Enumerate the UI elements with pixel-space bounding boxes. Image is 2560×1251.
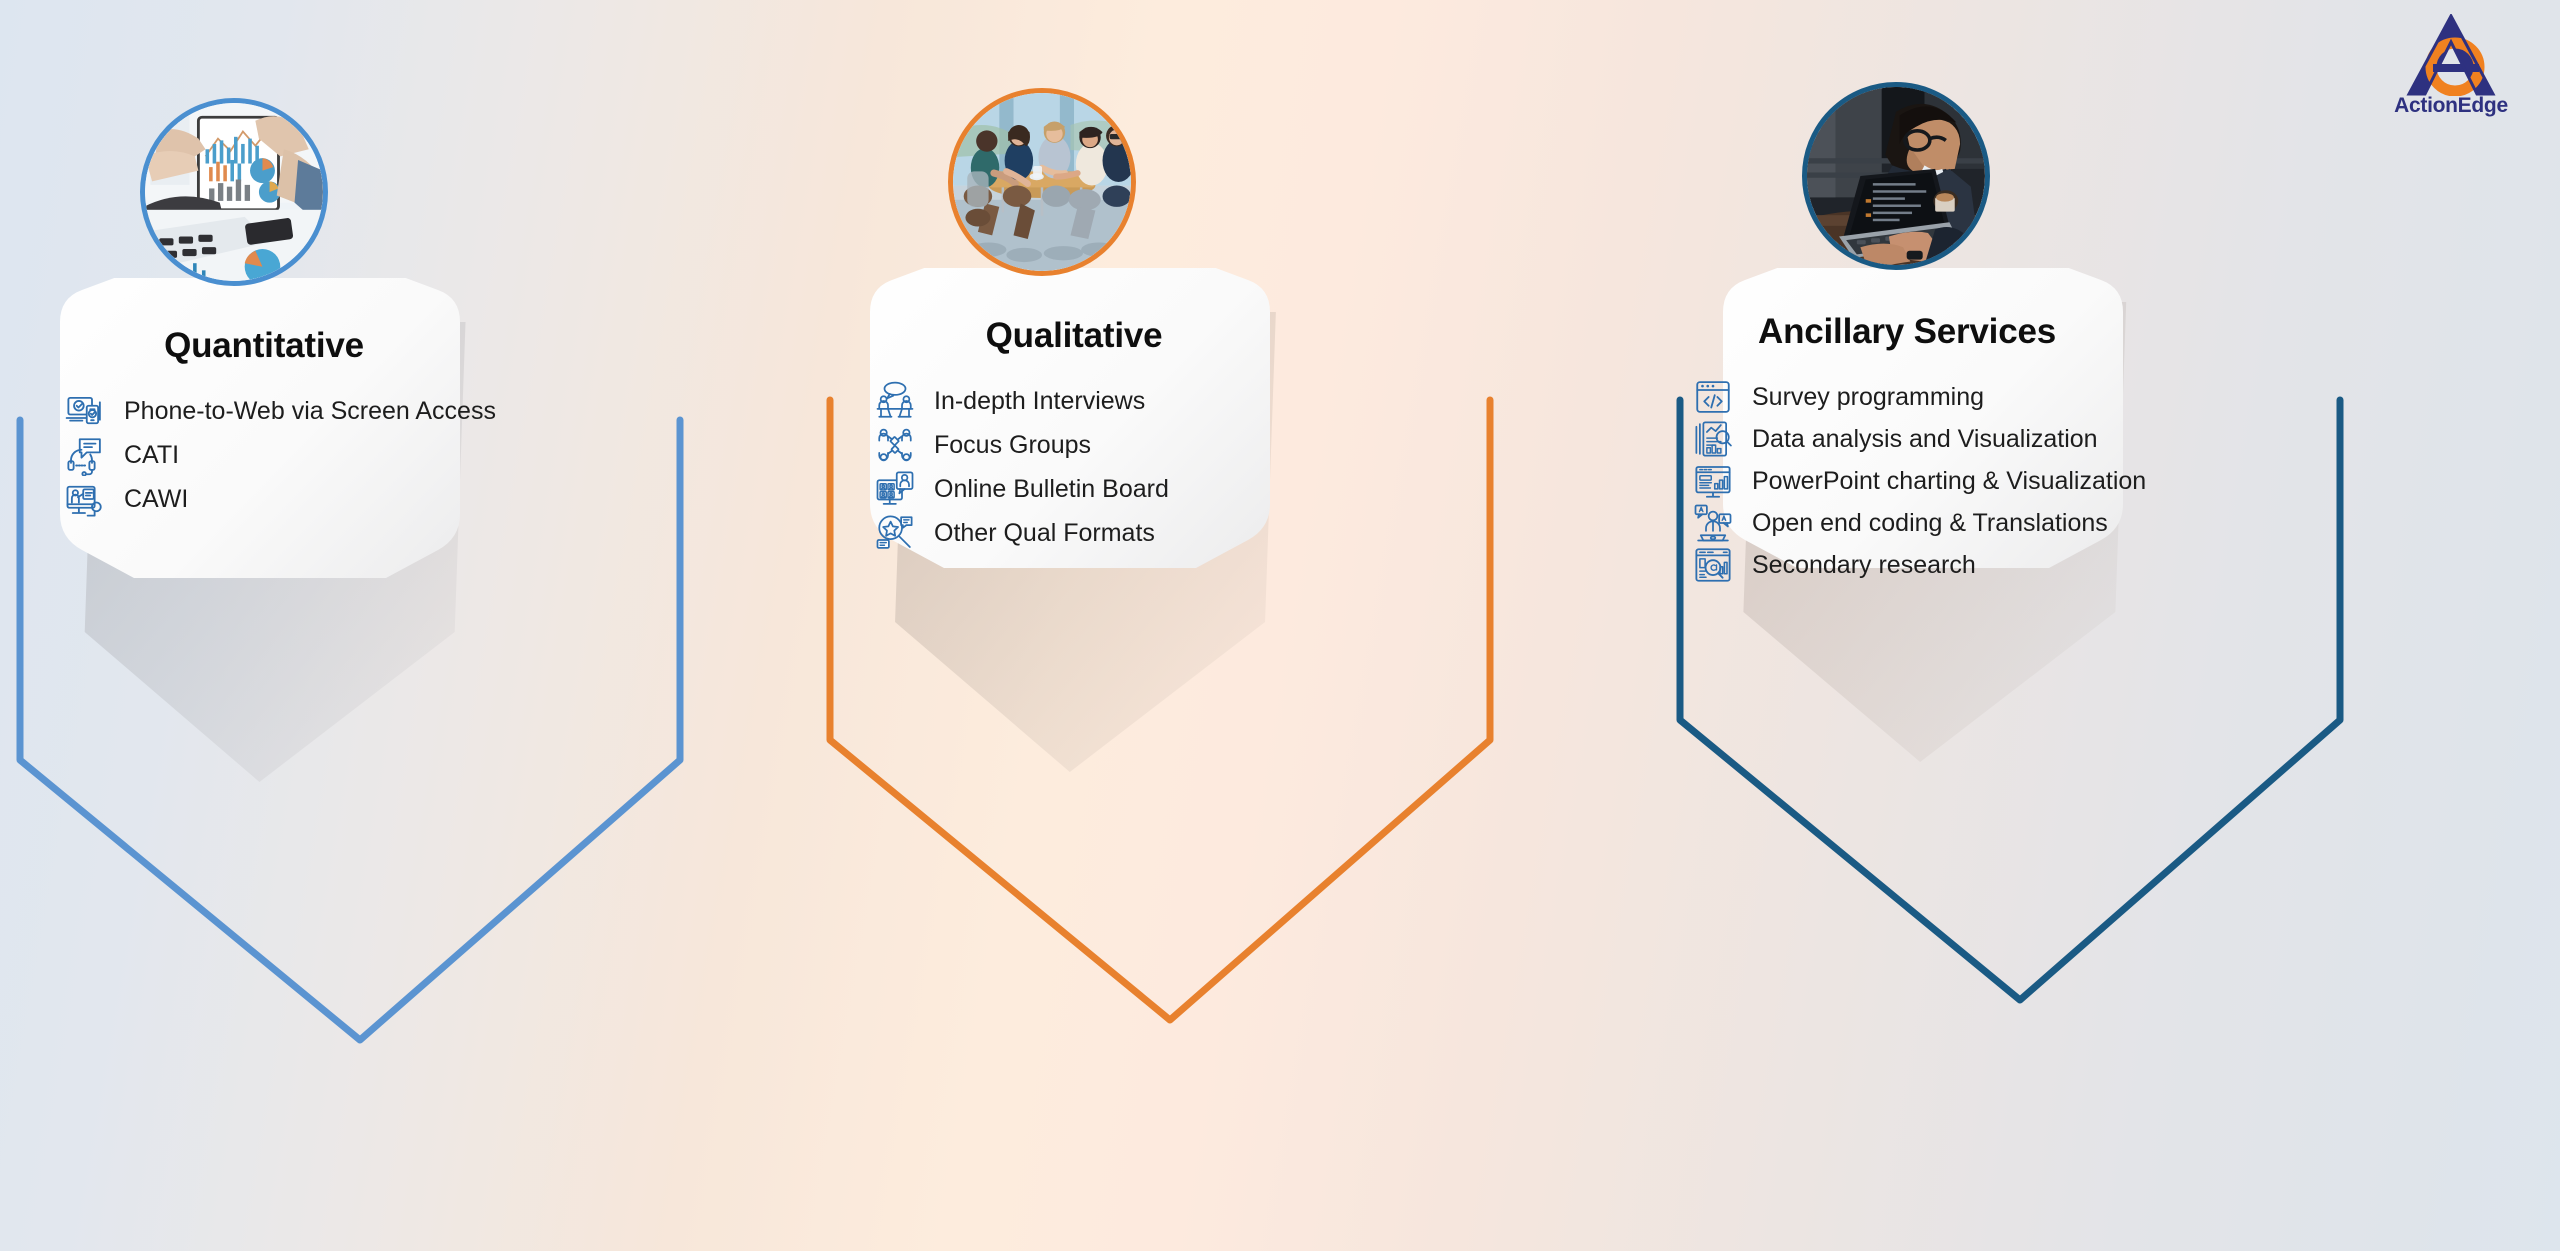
card-quantitative: Quantitative Phone-t [0,0,760,1251]
accent-outline-quantitative [0,0,760,1251]
list-item[interactable]: CATI [64,434,464,476]
list-item[interactable]: Survey programming [1692,376,2122,418]
list-item[interactable]: PowerPoint charting & Visualization [1692,460,2122,502]
service-list: In-depth Interviews [874,380,1274,554]
card-shadow [0,0,760,1251]
list-item[interactable]: Online Bulletin Board [874,468,1274,510]
list-item-label: In-depth Interviews [934,389,1145,414]
list-item[interactable]: CAWI [64,478,464,520]
interview-speech-bubble-icon [874,380,916,422]
accent-outline-qualitative [790,0,1570,1251]
list-item[interactable]: Focus Groups [874,424,1274,466]
group-connection-icon [874,424,916,466]
list-item-label: Focus Groups [934,433,1091,458]
card-qualitative: Qualitative [790,0,1570,1251]
list-item[interactable]: In-depth Interviews [874,380,1274,422]
list-item-label: Online Bulletin Board [934,477,1169,502]
brand-name: ActionEdge [2386,94,2516,118]
translation-person-laptop-icon [1692,502,1734,544]
list-item[interactable]: Open end coding & Translations [1692,502,2122,544]
laptop-mobile-check-icon [64,390,106,432]
service-list: Phone-to-Web via Screen Access [64,390,464,520]
report-magnifier-chart-icon [1692,418,1734,460]
infographic-canvas: ActionEdge [0,0,2560,1251]
list-item-label: Phone-to-Web via Screen Access [124,399,496,424]
card-title: Qualitative [874,316,1274,356]
web-research-magnifier-icon [1692,544,1734,586]
list-item-label: CATI [124,443,179,468]
magnifier-star-chat-icon [874,512,916,554]
presenter-screen-icon [64,478,106,520]
list-item-label: Data analysis and Visualization [1752,427,2098,452]
card-photo-quantitative [140,98,328,286]
list-item[interactable]: Other Qual Formats [874,512,1274,554]
list-item-label: Open end coding & Translations [1752,511,2108,536]
card-photo-qualitative [948,88,1136,276]
code-browser-icon [1692,376,1734,418]
list-item-label: Survey programming [1752,385,1984,410]
list-item-label: PowerPoint charting & Visualization [1752,469,2146,494]
accent-outline-ancillary [1620,0,2400,1251]
card-content-qualitative: Qualitative [874,316,1274,554]
card-content-quantitative: Quantitative Phone-t [64,326,464,520]
card-content-ancillary: Ancillary Services Survey programmi [1692,312,2122,586]
card-title: Quantitative [64,326,464,366]
actionedge-logo-icon [2403,14,2499,96]
card-photo-ancillary [1802,82,1990,270]
service-list: Survey programming [1692,376,2122,586]
slide-bar-chart-icon [1692,460,1734,502]
card-ancillary-services: Ancillary Services Survey programmi [1620,0,2400,1251]
list-item[interactable]: Phone-to-Web via Screen Access [64,390,464,432]
list-item[interactable]: Secondary research [1692,544,2122,586]
card-title: Ancillary Services [1692,312,2122,352]
headset-chat-icon [64,434,106,476]
card-shadow [1620,0,2400,1251]
brand-logo: ActionEdge [2386,14,2516,118]
list-item-label: Other Qual Formats [934,521,1155,546]
card-shadow [790,0,1570,1251]
list-item[interactable]: Data analysis and Visualization [1692,418,2122,460]
list-item-label: CAWI [124,487,188,512]
list-item-label: Secondary research [1752,553,1976,578]
video-grid-board-icon [874,468,916,510]
